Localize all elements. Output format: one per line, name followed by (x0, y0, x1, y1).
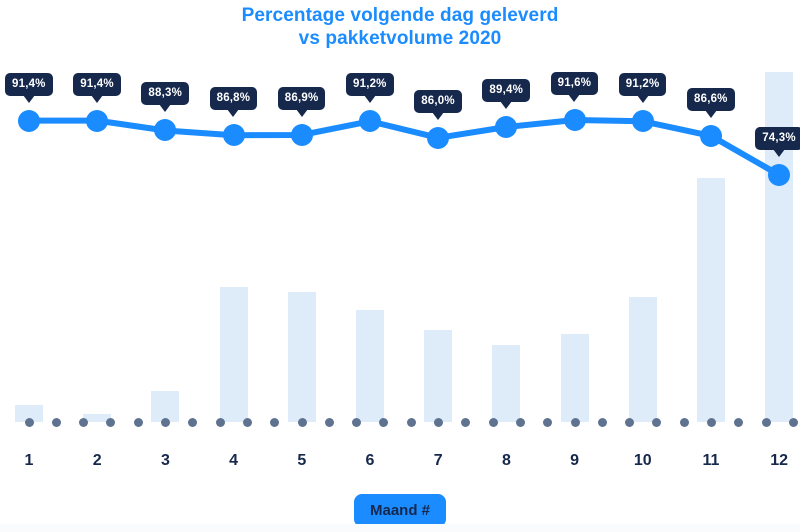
data-label-month-2: 91,4% (73, 73, 121, 96)
x-tick-10: 10 (623, 452, 663, 470)
chart-title-line-2: vs pakketvolume 2020 (0, 27, 800, 50)
x-tick-6: 6 (350, 452, 390, 470)
data-label-month-6: 91,2% (346, 73, 394, 96)
line-marker-month-10[interactable] (632, 110, 654, 132)
data-label-month-9: 91,6% (551, 72, 599, 95)
chart-title: Percentage volgende dag geleverd vs pakk… (0, 4, 800, 50)
x-tick-11: 11 (691, 452, 731, 470)
data-label-month-5: 86,9% (278, 87, 326, 110)
data-label-month-11: 86,6% (687, 88, 735, 111)
bottom-strip (0, 524, 800, 532)
x-tick-3: 3 (145, 452, 185, 470)
x-tick-7: 7 (418, 452, 458, 470)
chart-container: Percentage volgende dag geleverd vs pakk… (0, 0, 800, 532)
line-marker-month-1[interactable] (18, 110, 40, 132)
x-axis-title-wrap: Maand # (0, 494, 800, 527)
chart-title-line-1: Percentage volgende dag geleverd (0, 4, 800, 27)
line-series-percentage (0, 60, 800, 435)
line-marker-month-2[interactable] (86, 110, 108, 132)
data-label-month-12: 74,3% (755, 127, 800, 150)
data-label-month-7: 86,0% (414, 90, 462, 113)
x-axis-title-button[interactable]: Maand # (354, 494, 446, 527)
line-marker-month-7[interactable] (427, 127, 449, 149)
data-label-month-10: 91,2% (619, 73, 667, 96)
x-axis-tick-labels: 123456789101112 (0, 452, 800, 482)
x-tick-8: 8 (486, 452, 526, 470)
x-tick-1: 1 (9, 452, 49, 470)
x-tick-9: 9 (555, 452, 595, 470)
x-tick-5: 5 (282, 452, 322, 470)
x-tick-2: 2 (77, 452, 117, 470)
data-label-month-3: 88,3% (141, 82, 189, 105)
data-label-month-4: 86,8% (210, 87, 258, 110)
line-marker-month-5[interactable] (291, 124, 313, 146)
line-marker-month-11[interactable] (700, 125, 722, 147)
plot-area: 91,4%91,4%88,3%86,8%86,9%91,2%86,0%89,4%… (0, 60, 800, 435)
x-tick-12: 12 (759, 452, 799, 470)
data-label-month-1: 91,4% (5, 73, 53, 96)
line-marker-month-9[interactable] (564, 109, 586, 131)
data-label-month-8: 89,4% (482, 79, 530, 102)
line-marker-month-4[interactable] (223, 124, 245, 146)
x-tick-4: 4 (214, 452, 254, 470)
